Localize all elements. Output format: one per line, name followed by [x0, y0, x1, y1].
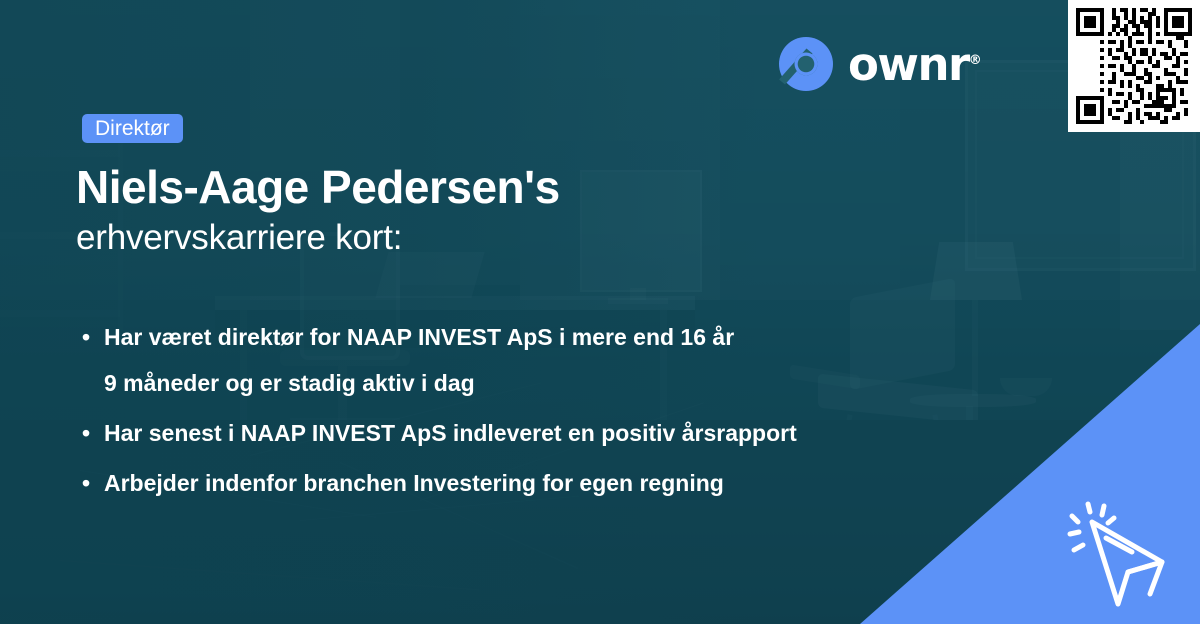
ownr-career-card: ownr® Direktør Niels-Aage Pedersen's erh… — [0, 0, 1200, 624]
bullet-marker: • — [82, 314, 90, 360]
list-item: • Arbejder indenfor branchen Investering… — [80, 460, 980, 506]
list-item: • Har senest i NAAP INVEST ApS indlevere… — [80, 410, 980, 456]
bullet-marker: • — [82, 410, 90, 456]
career-summary-list: • Har været direktør for NAAP INVEST ApS… — [80, 314, 980, 510]
ownr-wordmark-text: ownr — [848, 38, 969, 91]
ownr-circle-logo-icon — [778, 36, 834, 92]
page-subtitle: erhvervskarriere kort: — [76, 214, 976, 262]
ownr-wordmark: ownr® — [848, 42, 982, 87]
ownr-logo: ownr® — [778, 36, 982, 92]
list-item: • Har været direktør for NAAP INVEST ApS… — [80, 314, 980, 406]
qr-code[interactable] — [1076, 8, 1192, 124]
role-badge: Direktør — [82, 114, 183, 143]
list-item-line2: 9 måneder og er stadig aktiv i dag — [104, 360, 980, 406]
page-title: Niels-Aage Pedersen's — [76, 158, 976, 216]
registered-mark: ® — [969, 53, 982, 68]
list-item-line1: Arbejder indenfor branchen Investering f… — [104, 470, 724, 496]
qr-code-panel[interactable] — [1068, 0, 1200, 132]
list-item-line1: Har været direktør for NAAP INVEST ApS i… — [104, 324, 734, 350]
list-item-line1: Har senest i NAAP INVEST ApS indleveret … — [104, 420, 797, 446]
click-cursor-icon — [1066, 500, 1186, 610]
bullet-marker: • — [82, 460, 90, 506]
